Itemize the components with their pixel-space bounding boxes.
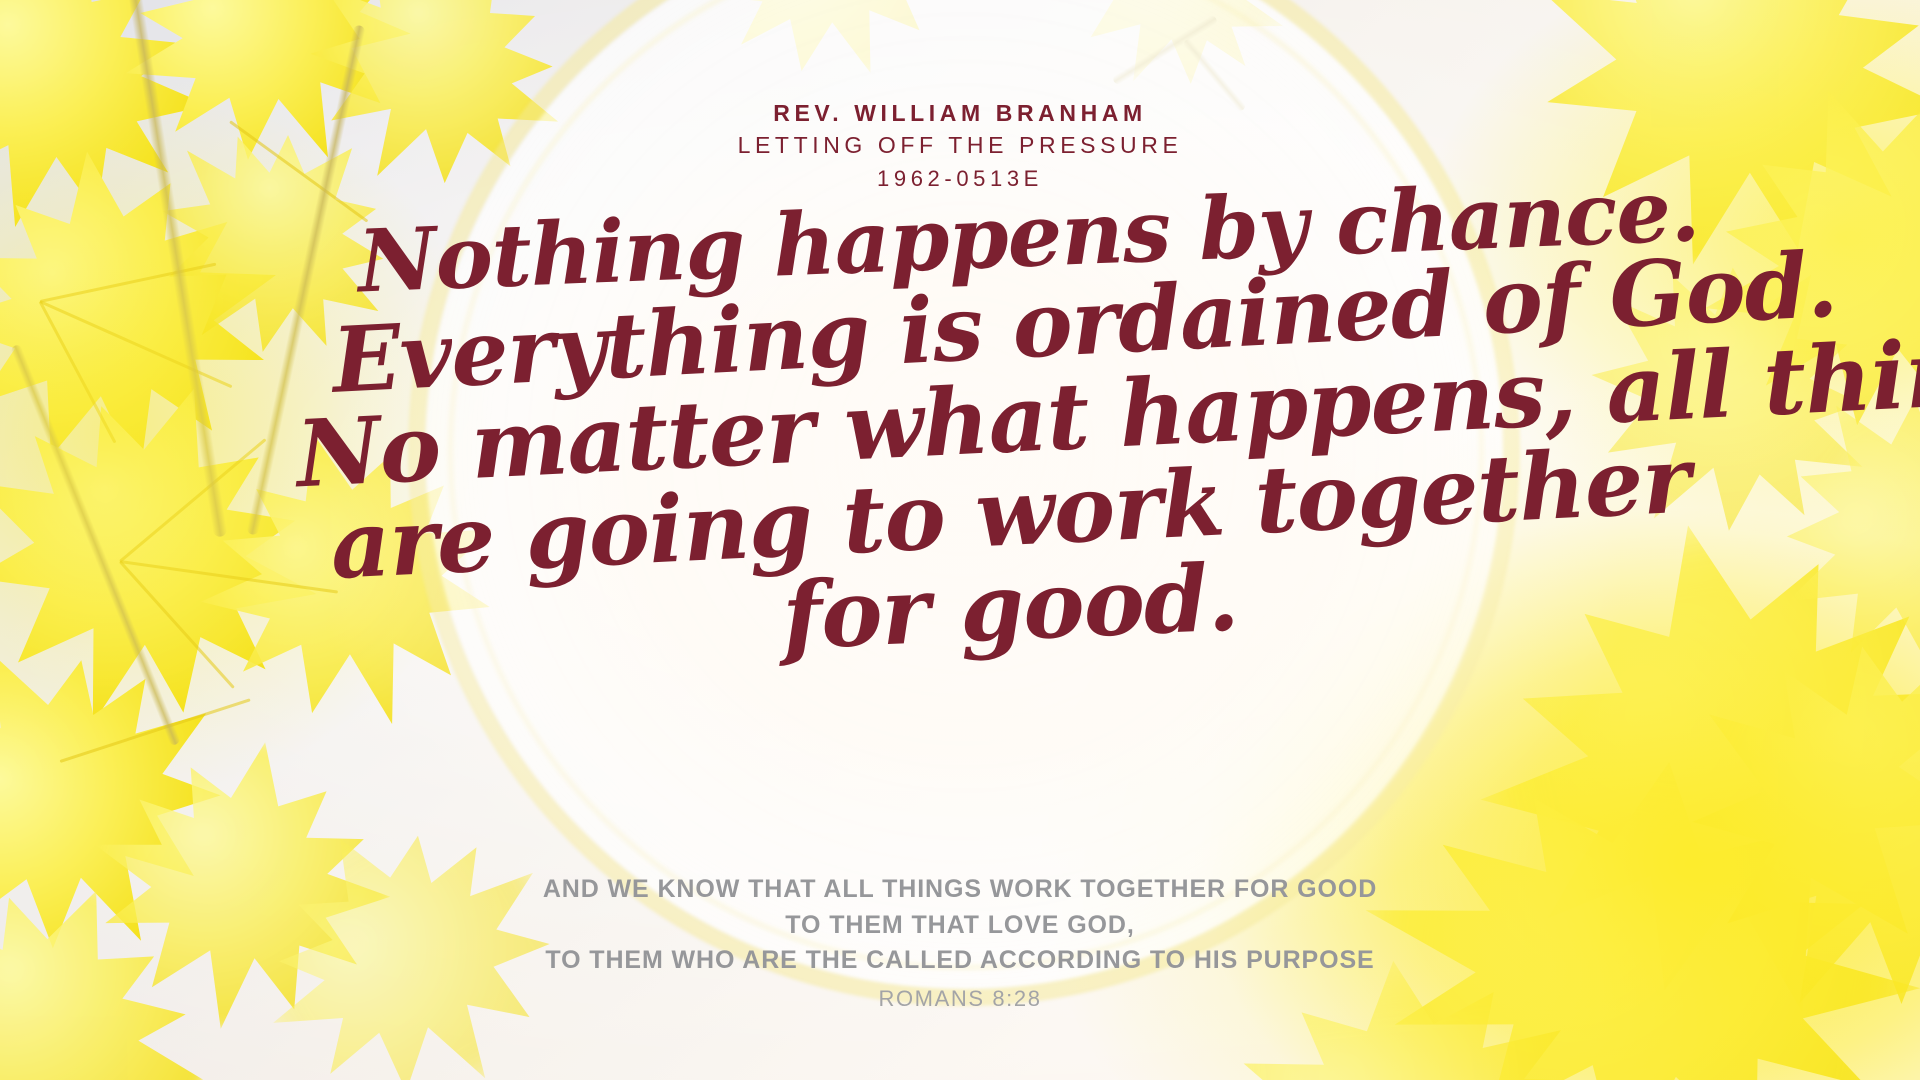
- scripture-reference: ROMANS 8:28: [0, 981, 1920, 1016]
- speaker-name: REV. WILLIAM BRANHAM: [0, 98, 1920, 129]
- quote-poster: REV. WILLIAM BRANHAM LETTING OFF THE PRE…: [0, 0, 1920, 1080]
- scripture-block: AND WE KNOW THAT ALL THINGS WORK TOGETHE…: [0, 872, 1920, 1016]
- quote-block: Nothing happens by chance. Everything is…: [290, 166, 1630, 686]
- sermon-title: LETTING OFF THE PRESSURE: [0, 129, 1920, 162]
- scripture-line: TO THEM WHO ARE THE CALLED ACCORDING TO …: [0, 943, 1920, 979]
- scripture-line: AND WE KNOW THAT ALL THINGS WORK TOGETHE…: [0, 872, 1920, 908]
- poster-content: REV. WILLIAM BRANHAM LETTING OFF THE PRE…: [0, 0, 1920, 1080]
- scripture-line: TO THEM THAT LOVE GOD,: [0, 908, 1920, 944]
